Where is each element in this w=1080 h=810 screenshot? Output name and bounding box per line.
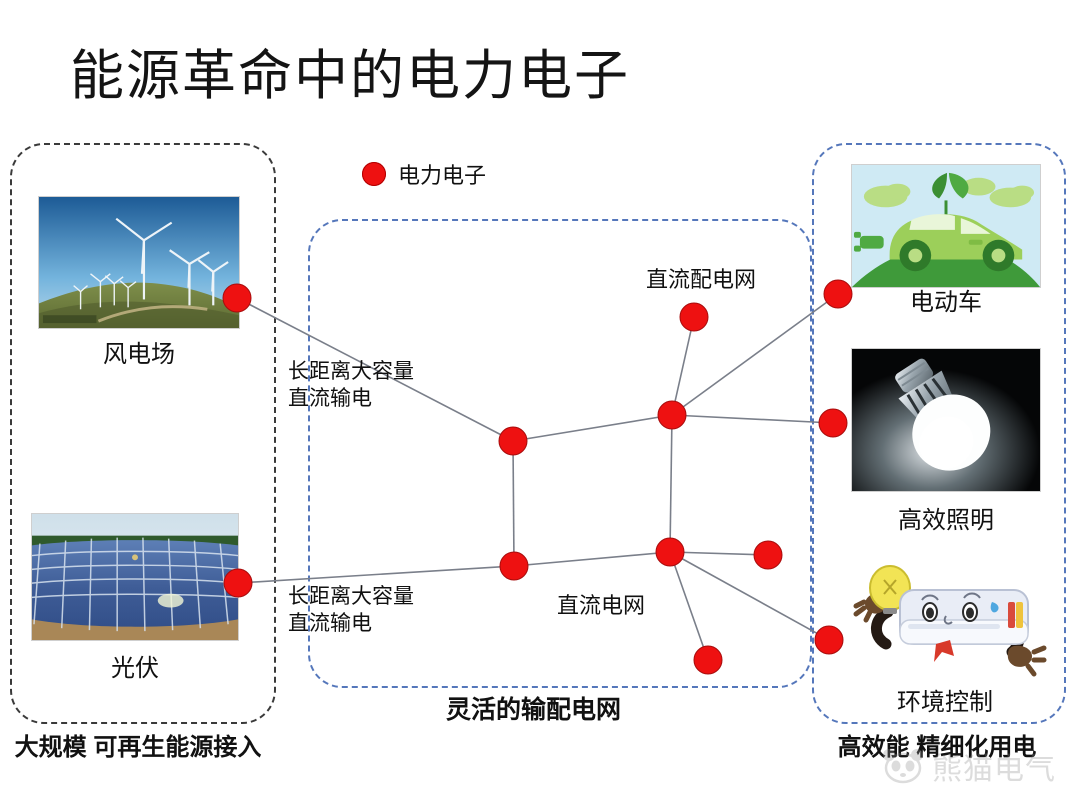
slide-canvas: 能源革命中的电力电子 电力电子: [0, 0, 1080, 810]
wind-farm-photo-icon: [38, 196, 240, 329]
card-label-wind-farm: 风电场: [38, 334, 240, 369]
panel-caption-center: 灵活的输配电网: [446, 690, 621, 726]
led-bulb-photo-icon: [851, 348, 1041, 492]
electric-car-illustration-icon: [851, 164, 1041, 288]
annotation-hvdc-bottom: 长距离大容量 直流输电: [288, 584, 414, 638]
panda-logo-icon: [880, 746, 926, 786]
card-label-electric-car: 电动车: [851, 282, 1041, 317]
annotation-hvdc-top: 长距离大容量 直流输电: [288, 359, 414, 413]
card-solar-farm[interactable]: [31, 513, 239, 641]
watermark-text: 熊猫电气: [932, 744, 1056, 788]
page-title: 能源革命中的电力电子: [70, 48, 630, 105]
air-conditioner-mascot-illustration-icon: [838, 560, 1052, 680]
watermark: 熊猫电气: [880, 738, 1070, 794]
card-label-solar-farm: 光伏: [31, 648, 239, 683]
card-led-lighting[interactable]: [851, 348, 1041, 492]
legend: 电力电子: [362, 158, 486, 190]
panel-caption-left: 大规模 可再生能源接入: [0, 733, 276, 762]
label-dc-grid: 直流电网: [557, 588, 645, 620]
card-label-led-lighting: 高效照明: [851, 500, 1041, 535]
legend-label: 电力电子: [398, 158, 486, 190]
label-dc-distribution-network: 直流配电网: [646, 262, 756, 294]
card-label-environment-control: 环境控制: [838, 682, 1052, 717]
power-electronics-dot-icon: [362, 162, 386, 186]
card-electric-car[interactable]: [851, 164, 1041, 288]
solar-farm-photo-icon: [31, 513, 239, 641]
card-wind-farm[interactable]: [38, 196, 240, 329]
card-environment-control[interactable]: [838, 560, 1052, 680]
